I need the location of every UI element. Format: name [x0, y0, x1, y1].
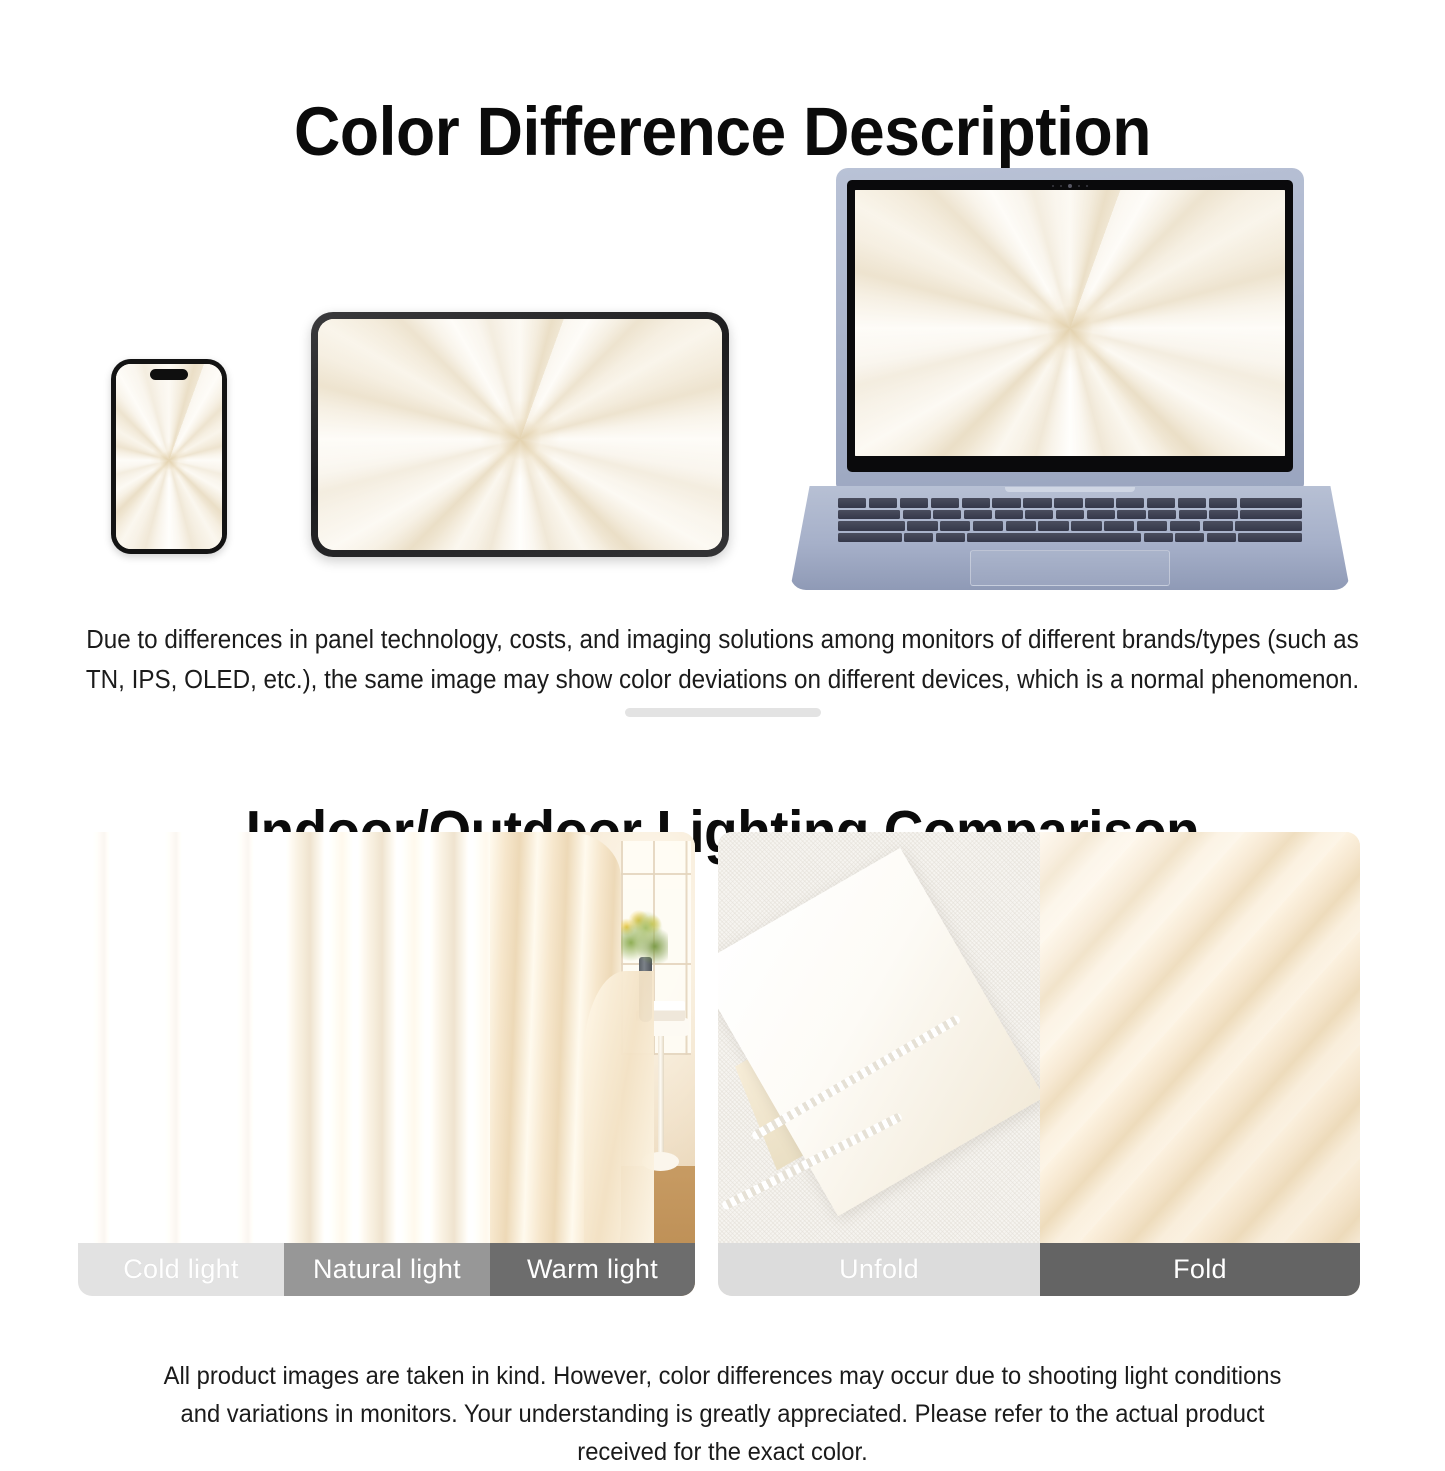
smartphone-mockup [111, 359, 227, 554]
laptop-base [790, 486, 1350, 590]
color-difference-description: Due to differences in panel technology, … [86, 620, 1360, 700]
fabric-swirl-image [855, 190, 1285, 456]
laptop-screen [855, 190, 1285, 456]
cold-light-section [78, 832, 284, 1296]
curtain-photo-strip [78, 832, 695, 1296]
smartphone-screen [116, 364, 222, 549]
fabric-swirl-image [318, 319, 722, 550]
fold-comparison-panel: Unfold Fold [718, 832, 1360, 1296]
device-mockup-row [0, 160, 1445, 580]
fold-section [1040, 832, 1360, 1296]
laptop-mockup [790, 168, 1350, 588]
lighting-comparison-panel: Cold light Natural light Warm light [78, 832, 695, 1296]
natural-light-section [284, 832, 490, 1296]
label-natural-light: Natural light [284, 1243, 490, 1296]
webcam-icon [1040, 184, 1100, 188]
fabric-sheen [1040, 832, 1360, 1296]
fold-label-bar: Unfold Fold [718, 1243, 1360, 1296]
laptop-lid [836, 168, 1304, 488]
section-divider [625, 708, 821, 717]
unfold-section [718, 832, 1040, 1296]
laptop-hinge [1005, 487, 1135, 492]
laptop-bezel [847, 180, 1293, 472]
lighting-label-bar: Cold light Natural light Warm light [78, 1243, 695, 1296]
flower-bouquet [615, 902, 668, 976]
fabric-swirl-image [116, 364, 222, 549]
footer-note: All product images are taken in kind. Ho… [162, 1357, 1284, 1471]
dynamic-island-icon [150, 369, 188, 380]
tablet-mockup [311, 312, 729, 557]
tablet-screen [318, 319, 722, 550]
laptop-trackpad [970, 550, 1170, 586]
label-warm-light: Warm light [490, 1243, 695, 1296]
warm-light-section [490, 832, 695, 1296]
fabric-photo-strip [718, 832, 1360, 1296]
label-cold-light: Cold light [78, 1243, 284, 1296]
label-fold: Fold [1040, 1243, 1360, 1296]
label-unfold: Unfold [718, 1243, 1040, 1296]
table-stem [658, 1036, 665, 1157]
curtain-fabric-cold [78, 832, 284, 1296]
laptop-keyboard [838, 498, 1302, 544]
curtain-fabric-natural [284, 832, 490, 1296]
